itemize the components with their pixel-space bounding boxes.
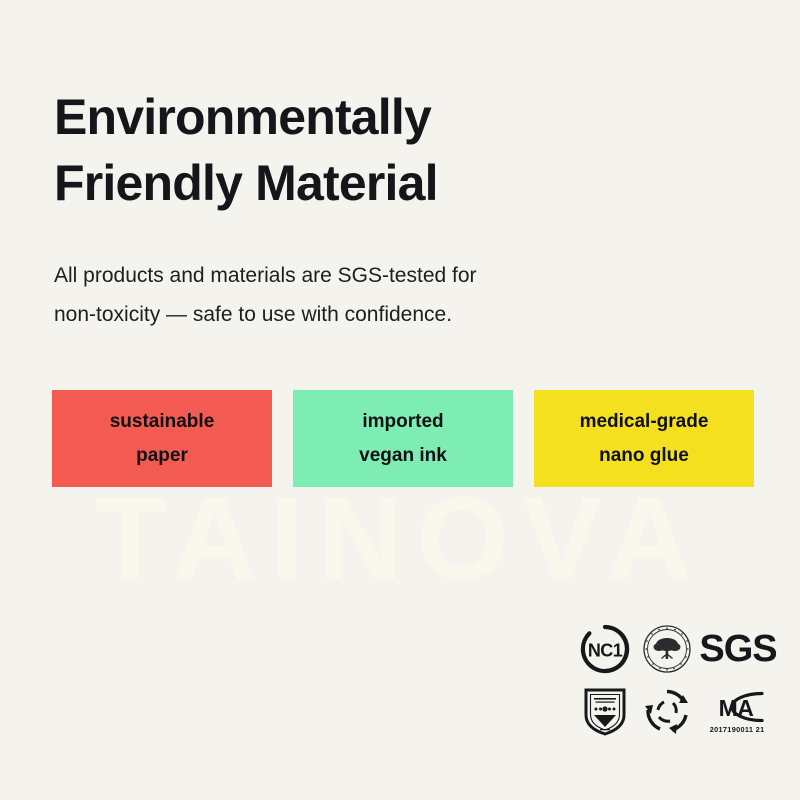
shield-badge-icon (581, 685, 629, 737)
svg-text:NC1: NC1 (588, 641, 623, 661)
page-subtitle-line-2: non-toxicity — safe to use with confiden… (54, 296, 674, 335)
sgs-mark-label: SGS (699, 630, 776, 668)
page-title-line-1: Environmentally (54, 89, 431, 145)
badge-label-line-1: medical-grade (580, 405, 709, 438)
page-title: Environmentally Friendly Material (54, 84, 694, 216)
certification-logo-grid: NC1 (574, 618, 776, 742)
badge-label-line-1: imported (362, 405, 443, 438)
cma-mark-code: 2017190011 21 (710, 727, 765, 734)
badge-label-line-1: sustainable (110, 405, 215, 438)
fsc-tree-seal-icon (642, 624, 692, 674)
badge-label-line-2: paper (136, 439, 188, 472)
material-badge-group: sustainable paper imported vegan ink med… (52, 390, 754, 487)
svg-text:MA: MA (719, 695, 754, 721)
page-subtitle-line-1: All products and materials are SGS-teste… (54, 257, 674, 296)
material-badge-sustainable-paper: sustainable paper (52, 390, 272, 487)
badge-label-line-2: vegan ink (359, 439, 447, 472)
cma-mark-icon: MA 2017190011 21 (700, 688, 774, 734)
page-subtitle: All products and materials are SGS-teste… (54, 257, 674, 335)
brand-watermark: TAINOVA (0, 480, 800, 598)
recycling-arrows-icon (642, 686, 692, 736)
nc1-mark-icon: NC1 (579, 623, 631, 675)
poster-canvas: TAINOVA Environmentally Friendly Materia… (0, 0, 800, 800)
sgs-mark-icon: SGS (697, 630, 776, 668)
page-title-line-2: Friendly Material (54, 150, 694, 216)
material-badge-imported-vegan-ink: imported vegan ink (293, 390, 513, 487)
material-badge-medical-grade-nano-glue: medical-grade nano glue (534, 390, 754, 487)
badge-label-line-2: nano glue (599, 439, 689, 472)
